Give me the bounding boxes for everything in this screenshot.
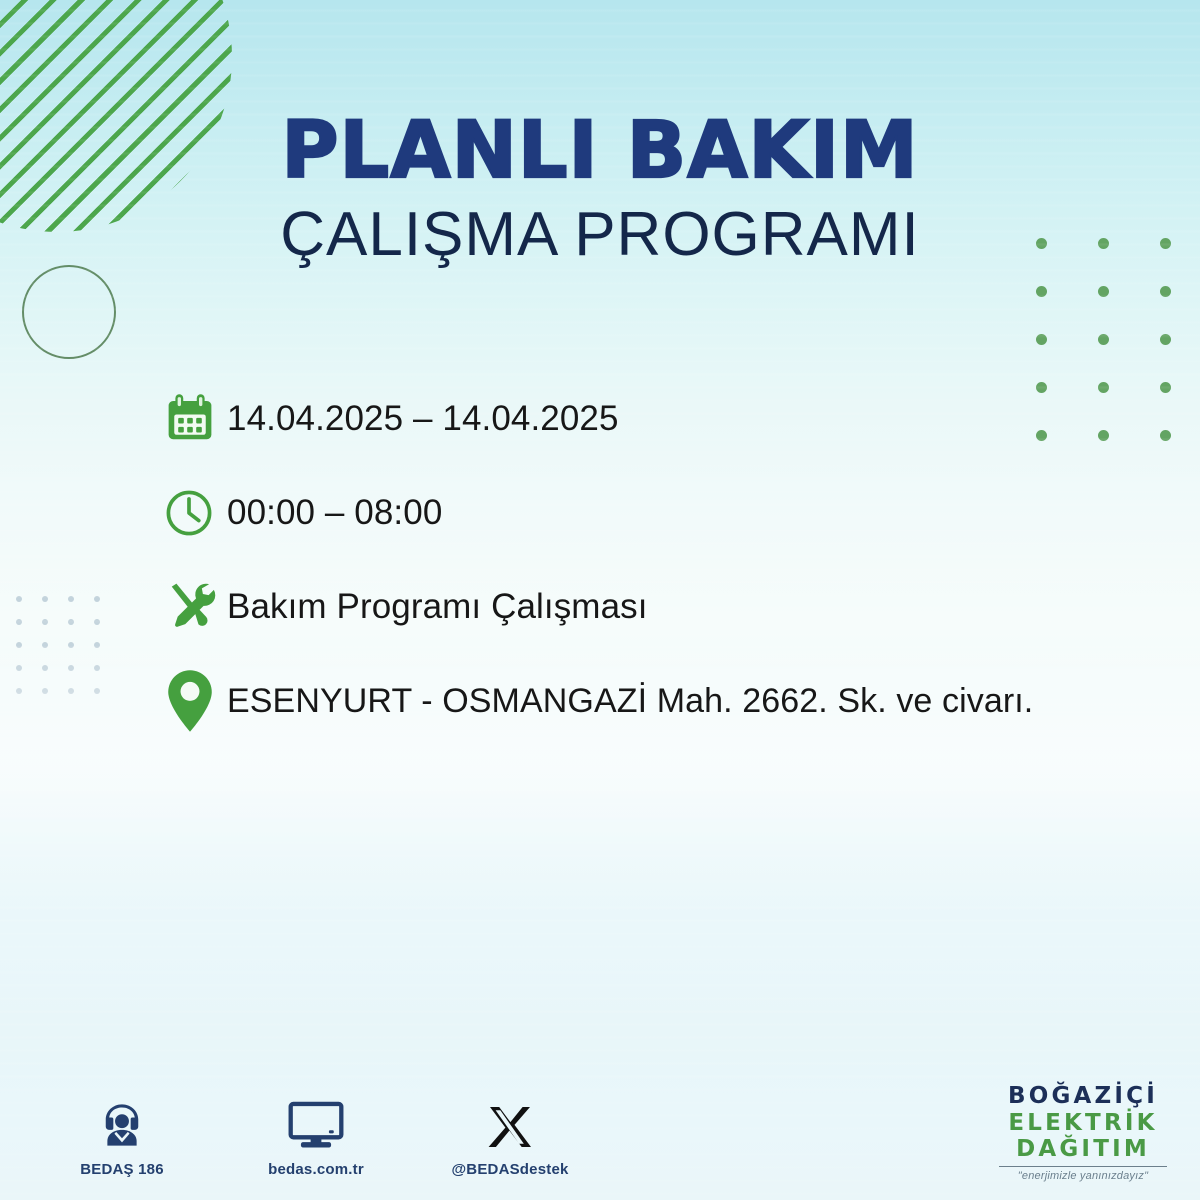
page-title: PLANLI BAKIM xyxy=(0,112,1200,190)
brand-divider xyxy=(999,1166,1167,1167)
contact-channels: BEDAŞ 186 bedas.com.tr xyxy=(56,1095,576,1178)
dot-grid-decoration-left xyxy=(16,596,120,711)
location-pin-icon xyxy=(163,666,227,736)
planned-maintenance-poster: PLANLI BAKIM ÇALIŞMA PROGRAMI xyxy=(0,0,1200,1200)
contact-phone[interactable]: BEDAŞ 186 xyxy=(56,1095,188,1178)
poster-header: PLANLI BAKIM ÇALIŞMA PROGRAMI xyxy=(0,112,1200,266)
clock-icon xyxy=(163,478,227,548)
monitor-icon xyxy=(288,1095,344,1151)
contact-website[interactable]: bedas.com.tr xyxy=(250,1095,382,1178)
maintenance-details-list: 14.04.2025 – 14.04.2025 00:00 – 08:00 xyxy=(163,376,1163,752)
page-subtitle: ÇALIŞMA PROGRAMI xyxy=(0,204,1200,266)
brand-line-bogazici: BOĞAZİÇİ xyxy=(988,1083,1178,1109)
bedas-logo: BOĞAZİÇİ ELEKTRİK DAĞITIM "enerjimizle y… xyxy=(988,1083,1178,1182)
brand-line-elektrik: ELEKTRİK xyxy=(988,1110,1178,1136)
detail-time-text: 00:00 – 08:00 xyxy=(227,493,442,533)
x-twitter-icon xyxy=(486,1095,534,1151)
calendar-icon xyxy=(163,384,227,454)
detail-worktype-text: Bakım Programı Çalışması xyxy=(227,587,648,627)
tools-icon xyxy=(163,572,227,642)
detail-row-worktype: Bakım Programı Çalışması xyxy=(163,564,1163,650)
brand-line-dagitim: DAĞITIM xyxy=(988,1136,1178,1162)
detail-row-date: 14.04.2025 – 14.04.2025 xyxy=(163,376,1163,462)
detail-row-location: ESENYURT - OSMANGAZİ Mah. 2662. Sk. ve c… xyxy=(163,658,1163,744)
detail-date-text: 14.04.2025 – 14.04.2025 xyxy=(227,399,619,439)
call-center-headset-icon xyxy=(96,1095,148,1151)
detail-row-time: 00:00 – 08:00 xyxy=(163,470,1163,556)
contact-website-label: bedas.com.tr xyxy=(268,1161,364,1178)
contact-x-account[interactable]: @BEDASdestek xyxy=(444,1095,576,1178)
detail-location-text: ESENYURT - OSMANGAZİ Mah. 2662. Sk. ve c… xyxy=(227,682,1033,721)
contact-phone-label: BEDAŞ 186 xyxy=(80,1161,164,1178)
poster-footer: BEDAŞ 186 bedas.com.tr xyxy=(0,1020,1200,1200)
brand-tagline: "enerjimizle yanınızdayız" xyxy=(988,1170,1178,1182)
contact-x-label: @BEDASdestek xyxy=(451,1161,568,1178)
circle-outline-decoration xyxy=(22,265,116,359)
